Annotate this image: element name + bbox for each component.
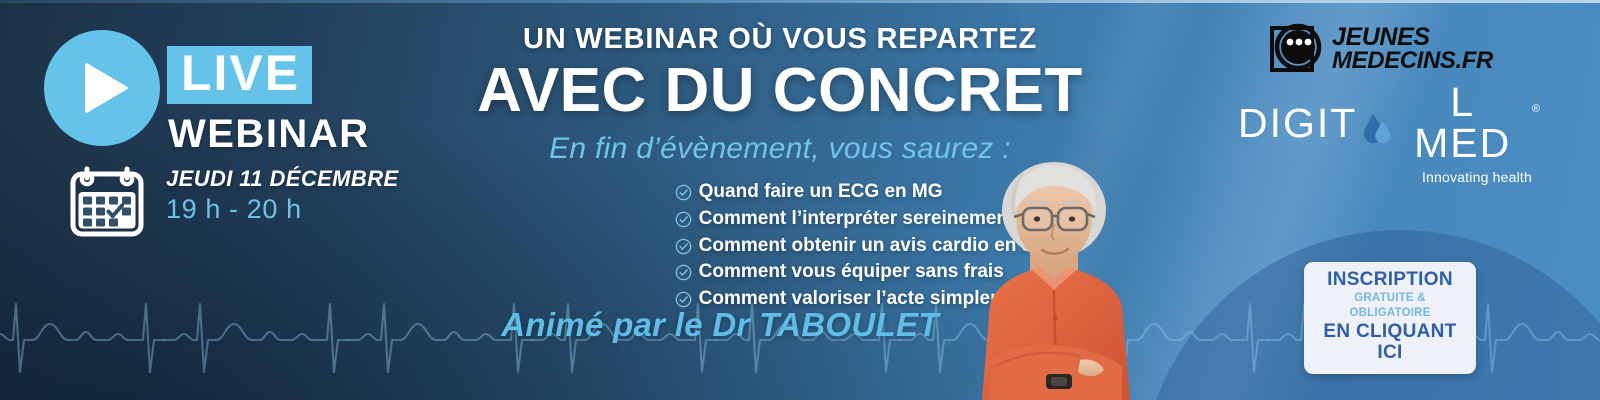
page-title: AVEC DU CONCRET — [420, 58, 1140, 123]
speaker-photo — [930, 160, 1180, 400]
calendar-icon — [68, 164, 146, 238]
play-button-icon[interactable] — [44, 30, 160, 146]
list-item-label: Quand faire un ECG en MG — [699, 179, 943, 205]
jm-line1: JEUNES — [1332, 26, 1493, 49]
webinar-label: WEBINAR — [168, 114, 370, 154]
digital-med-droplet-a-icon — [1361, 109, 1393, 143]
date-day-label: JEUDI 11 DÉCEMBRE — [166, 166, 399, 191]
dm-text-right: L MED — [1398, 82, 1528, 164]
digital-med-logo: DIGIT L MED ® Innovating health — [1238, 82, 1538, 185]
jm-line2: MEDECINS.FR — [1332, 50, 1493, 72]
check-circle-icon — [675, 238, 692, 255]
cta-line3: EN CLIQUANT ICI — [1314, 322, 1466, 364]
play-triangle-icon — [85, 62, 129, 114]
cta-line1: INSCRIPTION — [1314, 270, 1466, 291]
date-time-block: JEUDI 11 DÉCEMBRE 19 h - 20 h — [68, 160, 399, 238]
jeunes-medecins-mark-icon — [1266, 22, 1326, 76]
date-hours-label: 19 h - 20 h — [166, 193, 399, 227]
live-webinar-badge: LIVE WEBINAR — [44, 28, 384, 148]
check-circle-icon — [675, 264, 692, 281]
check-circle-icon — [675, 211, 692, 228]
webinar-banner: LIVE WEBINAR J — [0, 0, 1600, 400]
cta-line2: GRATUITE & OBLIGATOIRE — [1314, 291, 1466, 322]
kicker-text: UN WEBINAR OÙ VOUS REPARTEZ — [420, 24, 1140, 56]
digital-med-wordmark: DIGIT L MED ® — [1238, 82, 1538, 164]
registration-cta-button[interactable]: INSCRIPTION GRATUITE & OBLIGATOIRE EN CL… — [1304, 262, 1476, 374]
dm-text-left: DIGIT — [1238, 103, 1357, 144]
registered-mark: ® — [1532, 103, 1540, 115]
top-edge-line — [0, 0, 1600, 3]
live-tag: LIVE — [167, 46, 312, 104]
date-text-group: JEUDI 11 DÉCEMBRE 19 h - 20 h — [166, 160, 399, 227]
live-label: LIVE — [181, 48, 300, 99]
check-circle-icon — [675, 184, 692, 201]
jeunes-medecins-wordmark: JEUNES MEDECINS.FR — [1332, 26, 1493, 72]
logo-group: JEUNES MEDECINS.FR DIGIT L MED ® Innovat… — [1238, 22, 1538, 185]
jeunes-medecins-logo: JEUNES MEDECINS.FR — [1266, 22, 1538, 76]
digital-med-tagline: Innovating health — [1238, 169, 1538, 185]
